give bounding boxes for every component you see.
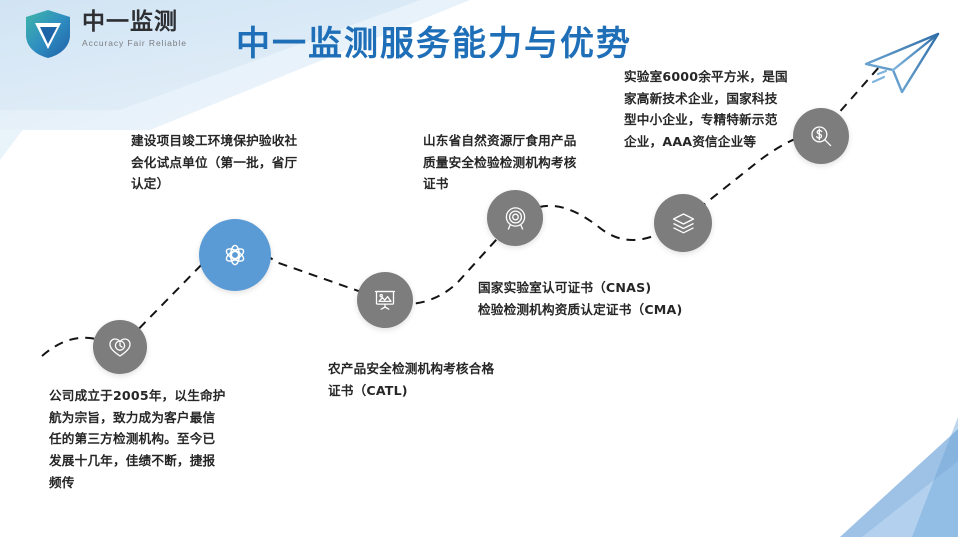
caption-line: 国家实验室认可证书（CNAS) [478,277,728,299]
page-title: 中一监测服务能力与优势 [236,16,632,65]
caption-line: 证书（CATL) [328,380,538,402]
caption-line: 证书 [423,173,623,195]
caption-line: 会化试点单位（第一批，省厅 [131,152,331,174]
brand-logo-text: 中一监测 Accuracy Fair Reliable [82,8,187,48]
caption-line: 家高新技术企业，国家科技 [624,88,824,110]
caption-line: 企业，AAA资信企业等 [624,131,824,153]
shield-logo-icon [22,8,74,60]
presentation-board-icon [372,287,398,313]
caption-line: 质量安全检验检测机构考核 [423,152,623,174]
heart-clock-icon [107,334,133,360]
paper-plane-icon [860,24,946,101]
caption-line: 公司成立于2005年，以生命护 [49,385,249,407]
timeline-caption-1: 公司成立于2005年，以生命护 航为宗旨，致力成为客户最信 任的第三方检测机构。… [49,385,249,493]
slide-canvas: 中一监测 Accuracy Fair Reliable 中一监测服务能力与优势 [0,0,958,537]
caption-line: 频传 [49,472,249,494]
timeline-node-1[interactable] [93,320,147,374]
caption-line: 建设项目竣工环境保护验收社 [131,130,331,152]
caption-line: 检验检测机构资质认定证书（CMA) [478,299,728,321]
timeline-node-2[interactable] [199,219,271,291]
timeline-caption-4: 山东省自然资源厅食用产品 质量安全检验检测机构考核 证书 [423,130,623,195]
atom-icon [218,238,252,272]
brand-tagline-en: Accuracy Fair Reliable [82,38,187,48]
timeline-node-5[interactable] [654,194,712,252]
caption-line: 型中小企业，专精特新示范 [624,109,824,131]
caption-line: 实验室6000余平方米，是国 [624,66,824,88]
caption-line: 山东省自然资源厅食用产品 [423,130,623,152]
caption-line: 航为宗旨，致力成为客户最信 [49,407,249,429]
layers-stack-icon [670,210,697,237]
timeline-node-4[interactable] [487,190,543,246]
brand-logo: 中一监测 Accuracy Fair Reliable [22,8,187,60]
caption-line: 农产品安全检测机构考核合格 [328,358,538,380]
timeline-caption-6: 实验室6000余平方米，是国 家高新技术企业，国家科技 型中小企业，专精特新示范… [624,66,824,153]
caption-line: 认定） [131,173,331,195]
caption-line: 任的第三方检测机构。至今已 [49,428,249,450]
timeline-caption-2: 建设项目竣工环境保护验收社 会化试点单位（第一批，省厅 认定） [131,130,331,195]
timeline-node-3[interactable] [357,272,413,328]
timeline-caption-3: 农产品安全检测机构考核合格 证书（CATL) [328,358,538,401]
timeline-caption-5: 国家实验室认可证书（CNAS) 检验检测机构资质认定证书（CMA) [478,277,728,320]
caption-line: 发展十几年，佳绩不断，捷报 [49,450,249,472]
brand-name-cn: 中一监测 [82,9,178,35]
target-bullseye-icon [502,205,529,232]
